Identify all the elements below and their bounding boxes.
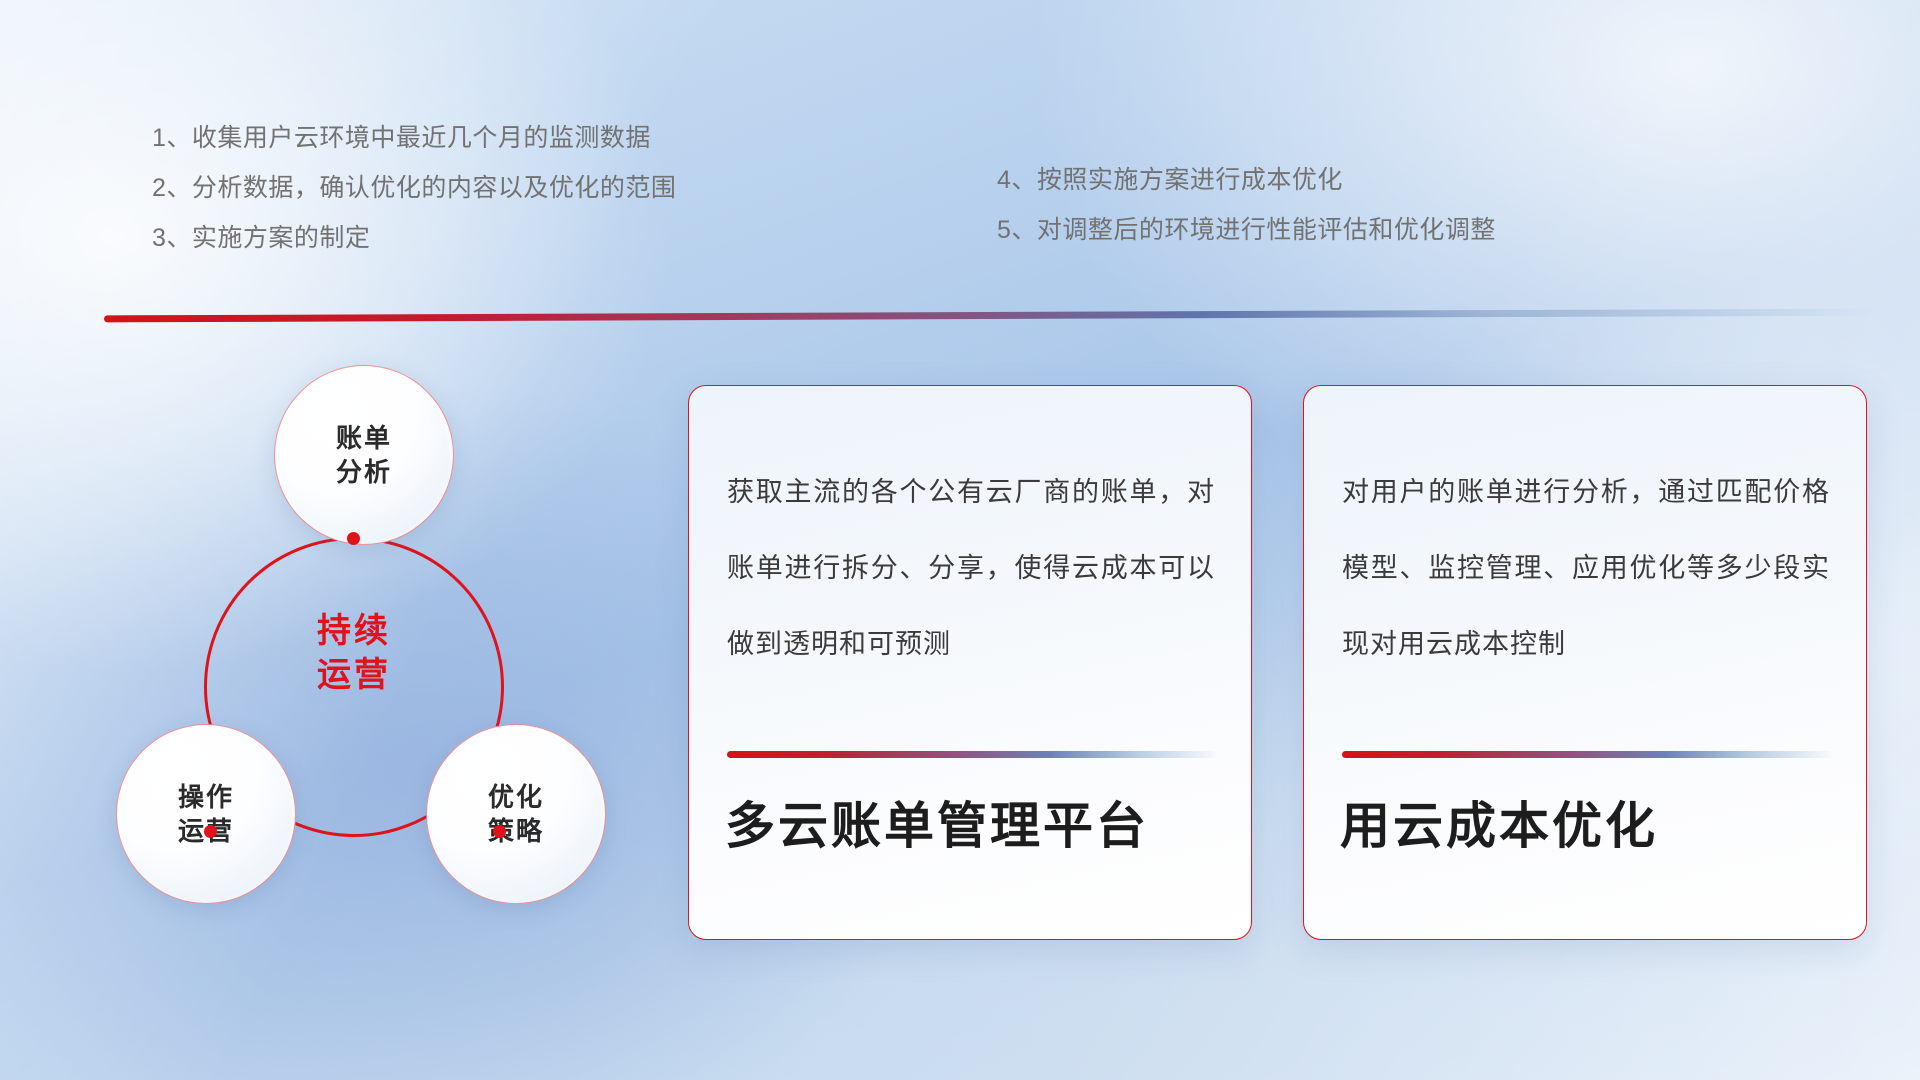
step-item-2: 2、分析数据，确认优化的内容以及优化的范围 <box>152 163 676 213</box>
node-label-line-2: 分析 <box>336 455 392 489</box>
cycle-diagram: 账单 分析 操作 运营 优化 策略 持续 运营 <box>96 352 656 952</box>
diagram-center-label: 持续 运营 <box>244 609 464 697</box>
diagram-node-optimization-strategy[interactable]: 优化 策略 <box>426 724 606 904</box>
step-item-1: 1、收集用户云环境中最近几个月的监测数据 <box>152 113 676 163</box>
card-title: 用云成本优化 <box>1340 791 1832 861</box>
diagram-node-bill-analysis[interactable]: 账单 分析 <box>274 365 454 545</box>
step-item-5: 5、对调整后的环境进行性能评估和优化调整 <box>997 205 1496 255</box>
step-item-3: 3、实施方案的制定 <box>152 213 676 263</box>
feature-card-multi-cloud-billing-platform[interactable]: 获取主流的各个公有云厂商的账单，对账单进行拆分、分享，使得云成本可以做到透明和可… <box>688 385 1252 940</box>
card-body-text: 对用户的账单进行分析，通过匹配价格模型、监控管理、应用优化等多少段实现对用云成本… <box>1342 454 1830 682</box>
center-label-line-1: 持续 <box>244 609 464 653</box>
card-divider <box>727 751 1217 758</box>
feature-card-cloud-cost-optimization[interactable]: 对用户的账单进行分析，通过匹配价格模型、监控管理、应用优化等多少段实现对用云成本… <box>1303 385 1867 940</box>
card-divider <box>1342 751 1832 758</box>
slide-canvas: 1、收集用户云环境中最近几个月的监测数据 2、分析数据，确认优化的内容以及优化的… <box>0 0 1920 1080</box>
ring-dot-left-icon <box>204 825 217 838</box>
card-body-text: 获取主流的各个公有云厂商的账单，对账单进行拆分、分享，使得云成本可以做到透明和可… <box>727 454 1215 682</box>
ring-dot-top-icon <box>347 532 360 545</box>
diagram-node-operation[interactable]: 操作 运营 <box>116 724 296 904</box>
node-label-line-1: 账单 <box>336 421 392 455</box>
steps-left-column: 1、收集用户云环境中最近几个月的监测数据 2、分析数据，确认优化的内容以及优化的… <box>152 113 676 263</box>
section-divider <box>104 309 1874 323</box>
steps-right-column: 4、按照实施方案进行成本优化 5、对调整后的环境进行性能评估和优化调整 <box>997 155 1496 255</box>
step-item-4: 4、按照实施方案进行成本优化 <box>997 155 1496 205</box>
ring-dot-right-icon <box>493 825 506 838</box>
card-title: 多云账单管理平台 <box>725 791 1217 861</box>
center-label-line-2: 运营 <box>244 653 464 697</box>
node-label-line-1: 优化 <box>488 780 544 814</box>
node-label-line-1: 操作 <box>178 780 234 814</box>
